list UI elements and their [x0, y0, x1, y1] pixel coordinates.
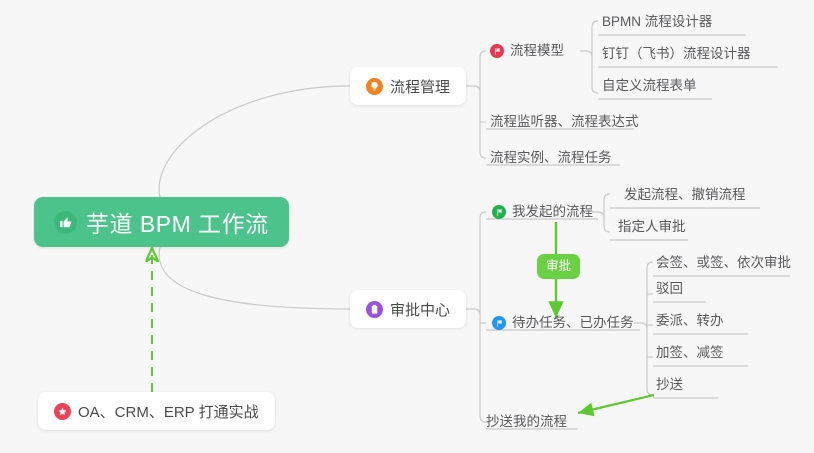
leaf-jiaqian-jianqian[interactable]: 加签、减签 — [656, 340, 724, 366]
node-daiban-yiban[interactable]: 待办任务、已办任务 — [492, 310, 634, 336]
wire-daiban-trunk-up — [647, 262, 653, 329]
leaf-label: 驳回 — [656, 276, 683, 302]
wire-daiban-trunk — [641, 323, 653, 395]
wire-liuchengmoxing-trunk — [586, 51, 598, 93]
mindmap-canvas: 芋道 BPM 工作流 流程管理 审批中心 流程模型 流程监听器、流程表达式 流程 — [0, 0, 814, 453]
branch-liuchengguanli[interactable]: 流程管理 — [350, 67, 466, 105]
wire-wofaqi-trunk-up — [604, 194, 610, 218]
leaf-liuchengshili[interactable]: 流程实例、流程任务 — [490, 145, 612, 171]
callout-label: OA、CRM、ERP 打通实战 — [78, 401, 259, 422]
approval-tag: 审批 — [537, 254, 580, 279]
leaf-label: 自定义流程表单 — [602, 73, 697, 99]
wire-shenpizhongxin-trunk — [474, 309, 486, 422]
leaf-label: 抄送 — [656, 372, 683, 398]
leaf-dingding-designer[interactable]: 钉钉（飞书）流程设计器 — [602, 41, 751, 67]
leaf-chaosong[interactable]: 抄送 — [656, 372, 683, 398]
leaf-label: 抄送我的流程 — [486, 409, 567, 435]
leaf-label: 加签、减签 — [656, 340, 724, 366]
leaf-label: 委派、转办 — [656, 308, 724, 334]
leaf-faqi-chexiao[interactable]: 发起流程、撤销流程 — [624, 182, 746, 208]
branch-shenpizhongxin[interactable]: 审批中心 — [350, 290, 466, 328]
leaf-bpmn-designer[interactable]: BPMN 流程设计器 — [602, 9, 712, 35]
leaf-chaosongwodelicheng[interactable]: 抄送我的流程 — [486, 409, 567, 435]
root-label: 芋道 BPM 工作流 — [86, 205, 269, 239]
node-label: 流程模型 — [510, 38, 564, 64]
wire-liuchengmoxing-trunk-up — [592, 21, 598, 57]
leaf-label: 指定人审批 — [618, 214, 686, 240]
leaf-label: 流程实例、流程任务 — [490, 145, 612, 171]
leaf-huiqian-huoqian[interactable]: 会签、或签、依次审批 — [656, 250, 791, 276]
node-wofaqidelicheng[interactable]: 我发起的流程 — [492, 199, 593, 225]
leaf-weipai-zhuanban[interactable]: 委派、转办 — [656, 308, 724, 334]
branch-label: 流程管理 — [390, 76, 450, 97]
leaf-label: 发起流程、撤销流程 — [624, 182, 746, 208]
star-icon — [54, 403, 71, 420]
arrow-chaosong — [578, 395, 654, 413]
leaf-label: 流程监听器、流程表达式 — [490, 109, 639, 135]
thumbs-up-icon — [54, 211, 77, 234]
leaf-label: 会签、或签、依次审批 — [656, 250, 791, 276]
leaf-liuchengjiantingqi[interactable]: 流程监听器、流程表达式 — [490, 109, 639, 135]
wire-shenpizhongxin-trunk-up — [480, 212, 486, 315]
leaf-label: BPMN 流程设计器 — [602, 9, 712, 35]
lightbulb-icon — [366, 78, 383, 95]
node-liuchengmoxing[interactable]: 流程模型 — [490, 38, 564, 64]
wire-root-to-liuchengguanli — [159, 86, 350, 197]
flag-icon — [492, 316, 506, 330]
node-label: 我发起的流程 — [512, 199, 593, 225]
branch-label: 审批中心 — [390, 299, 450, 320]
root-node[interactable]: 芋道 BPM 工作流 — [34, 197, 289, 247]
callout-node[interactable]: OA、CRM、ERP 打通实战 — [38, 392, 275, 430]
flag-icon — [490, 44, 504, 58]
wire-root-to-shenpizhongxin — [159, 247, 350, 309]
clipboard-icon — [366, 301, 383, 318]
leaf-bohui[interactable]: 驳回 — [656, 276, 683, 302]
leaf-label: 钉钉（飞书）流程设计器 — [602, 41, 751, 67]
node-label: 待办任务、已办任务 — [512, 310, 634, 336]
flag-icon — [492, 205, 506, 219]
leaf-zhidingren-shenpi[interactable]: 指定人审批 — [618, 214, 686, 240]
wire-liuchengguanli-trunk-up — [480, 51, 486, 92]
leaf-custom-form[interactable]: 自定义流程表单 — [602, 73, 697, 99]
